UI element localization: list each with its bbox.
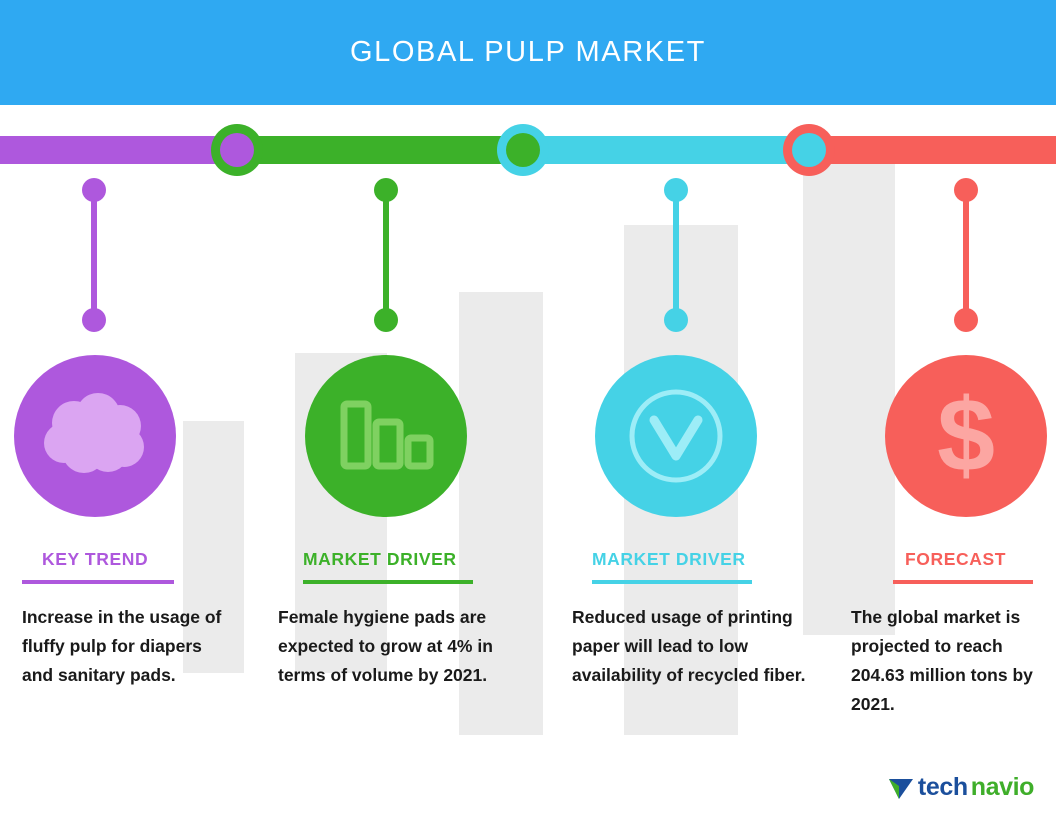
dollar-sign-icon: $ xyxy=(918,383,1014,489)
connector-line-2 xyxy=(383,192,389,320)
timeline-node-2[interactable] xyxy=(497,124,549,176)
logo-text-navio: navio xyxy=(971,773,1034,802)
category-label-key-trend: KEY TREND xyxy=(42,549,148,570)
technavio-logo[interactable]: technavio xyxy=(887,773,1034,802)
chevron-down-circle-icon xyxy=(624,384,728,488)
timeline-node-1[interactable] xyxy=(211,124,263,176)
category-label-forecast: FORECAST xyxy=(905,549,1006,570)
cloud-icon xyxy=(40,393,150,479)
connector-dot-bottom-1 xyxy=(82,308,106,332)
timeline-segment-red xyxy=(798,136,1056,164)
svg-text:$: $ xyxy=(937,383,995,489)
category-rule-forecast xyxy=(893,580,1033,584)
body-text-forecast: The global market is projected to reach … xyxy=(851,603,1041,719)
timeline-node-3[interactable] xyxy=(783,124,835,176)
connector-dot-bottom-3 xyxy=(664,308,688,332)
bar-chart-icon xyxy=(338,394,434,478)
icon-circle-market-driver-1[interactable] xyxy=(305,355,467,517)
category-label-market-driver-1: MARKET DRIVER xyxy=(303,549,457,570)
body-text-market-driver-2: Reduced usage of printing paper will lea… xyxy=(572,603,832,690)
paper-plane-icon xyxy=(887,775,915,801)
timeline-segment-green xyxy=(236,136,530,164)
timeline-node-2-inner xyxy=(506,133,540,167)
logo-text-tech: tech xyxy=(918,773,968,802)
connector-line-3 xyxy=(673,192,679,320)
timeline-node-1-inner xyxy=(220,133,254,167)
icon-circle-key-trend[interactable] xyxy=(14,355,176,517)
body-text-market-driver-1: Female hygiene pads are expected to grow… xyxy=(278,603,518,690)
category-label-market-driver-2: MARKET DRIVER xyxy=(592,549,746,570)
body-text-key-trend: Increase in the usage of fluffy pulp for… xyxy=(22,603,232,690)
infographic-canvas: GLOBAL PULP MARKET xyxy=(0,0,1056,816)
connector-dot-bottom-2 xyxy=(374,308,398,332)
timeline-node-3-inner xyxy=(792,133,826,167)
bg-bar-5 xyxy=(803,155,895,635)
timeline-segment-cyan xyxy=(516,136,812,164)
connector-line-1 xyxy=(91,192,97,320)
connector-dot-bottom-4 xyxy=(954,308,978,332)
timeline xyxy=(0,0,1056,60)
icon-circle-market-driver-2[interactable] xyxy=(595,355,757,517)
category-rule-market-driver-2 xyxy=(592,580,752,584)
category-rule-key-trend xyxy=(22,580,174,584)
connector-line-4 xyxy=(963,192,969,320)
icon-circle-forecast[interactable]: $ xyxy=(885,355,1047,517)
category-rule-market-driver-1 xyxy=(303,580,473,584)
